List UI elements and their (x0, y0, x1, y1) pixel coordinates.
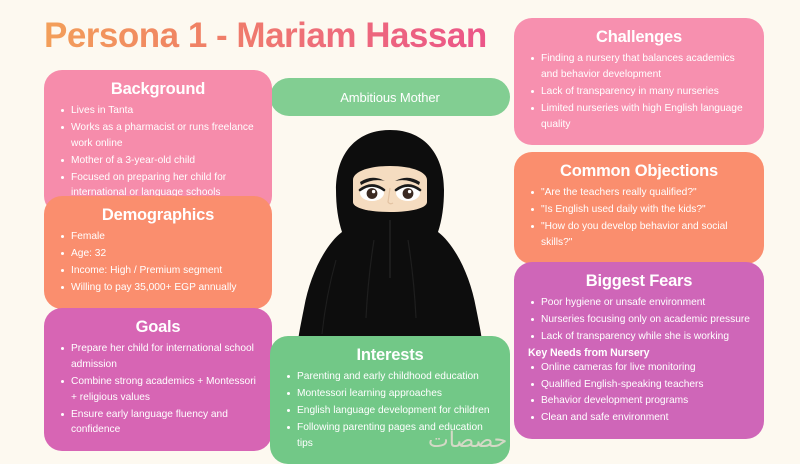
list-item: Lack of transparency while she is workin… (528, 329, 750, 345)
persona-role-badge: Ambitious Mother (270, 78, 510, 116)
card-common-objections-list: "Are the teachers really qualified?" "Is… (528, 185, 750, 250)
card-common-objections: Common Objections "Are the teachers real… (514, 152, 764, 264)
list-item: Prepare her child for international scho… (58, 341, 258, 373)
card-background-list: Lives in Tanta Works as a pharmacist or … (58, 103, 258, 201)
list-item: Ensure early language fluency and confid… (58, 407, 258, 439)
card-goals-title: Goals (58, 316, 258, 338)
card-background: Background Lives in Tanta Works as a pha… (44, 70, 272, 214)
card-goals: Goals Prepare her child for internationa… (44, 308, 272, 451)
list-item: Works as a pharmacist or runs freelance … (58, 120, 258, 152)
persona-infographic: Persona 1 - Mariam Hassan Ambitious Moth… (0, 0, 800, 460)
card-challenges-title: Challenges (528, 26, 750, 48)
list-item: Willing to pay 35,000+ EGP annually (58, 280, 258, 296)
card-biggest-fears-list: Poor hygiene or unsafe environment Nurse… (528, 295, 750, 344)
list-item: Montessori learning approaches (284, 386, 496, 402)
list-item: "Are the teachers really qualified?" (528, 185, 750, 201)
list-item: Combine strong academics + Montessori + … (58, 374, 258, 406)
list-item: Online cameras for live monitoring (528, 360, 750, 376)
card-background-title: Background (58, 78, 258, 100)
list-item: Clean and safe environment (528, 410, 750, 426)
card-demographics: Demographics Female Age: 32 Income: High… (44, 196, 272, 309)
card-goals-list: Prepare her child for international scho… (58, 341, 258, 438)
list-item: Nurseries focusing only on academic pres… (528, 312, 750, 328)
left-eye-iris (367, 188, 378, 199)
card-demographics-title: Demographics (58, 204, 258, 226)
list-item: "How do you develop behavior and social … (528, 219, 750, 251)
list-item: English language development for childre… (284, 403, 496, 419)
list-item: Behavior development programs (528, 393, 750, 409)
list-item: Female (58, 229, 258, 245)
card-challenges: Challenges Finding a nursery that balanc… (514, 18, 764, 145)
list-item: Income: High / Premium segment (58, 263, 258, 279)
list-item: Parenting and early childhood education (284, 369, 496, 385)
card-challenges-list: Finding a nursery that balances academic… (528, 51, 750, 132)
list-item: "Is English used daily with the kids?" (528, 202, 750, 218)
key-needs-subheading: Key Needs from Nursery (528, 347, 750, 359)
card-common-objections-title: Common Objections (528, 160, 750, 182)
list-item: Qualified English-speaking teachers (528, 377, 750, 393)
persona-role-label: Ambitious Mother (340, 90, 440, 105)
right-eye-iris (403, 188, 414, 199)
card-interests: Interests Parenting and early childhood … (270, 336, 510, 464)
card-biggest-fears: Biggest Fears Poor hygiene or unsafe env… (514, 262, 764, 439)
persona-avatar-illustration (296, 128, 484, 343)
page-title: Persona 1 - Mariam Hassan (44, 16, 487, 56)
list-item: Poor hygiene or unsafe environment (528, 295, 750, 311)
card-biggest-fears-title: Biggest Fears (528, 270, 750, 292)
card-interests-list: Parenting and early childhood education … (284, 369, 496, 451)
list-item: Mother of a 3-year-old child (58, 153, 258, 169)
list-item: Lives in Tanta (58, 103, 258, 119)
list-item: Following parenting pages and education … (284, 420, 496, 452)
right-eye-highlight (408, 190, 411, 193)
left-eye-highlight (372, 190, 375, 193)
list-item: Lack of transparency in many nurseries (528, 84, 750, 100)
list-item: Finding a nursery that balances academic… (528, 51, 750, 83)
card-demographics-list: Female Age: 32 Income: High / Premium se… (58, 229, 258, 295)
key-needs-list: Online cameras for live monitoring Quali… (528, 360, 750, 426)
list-item: Limited nurseries with high English lang… (528, 101, 750, 133)
list-item: Age: 32 (58, 246, 258, 262)
card-interests-title: Interests (284, 344, 496, 366)
